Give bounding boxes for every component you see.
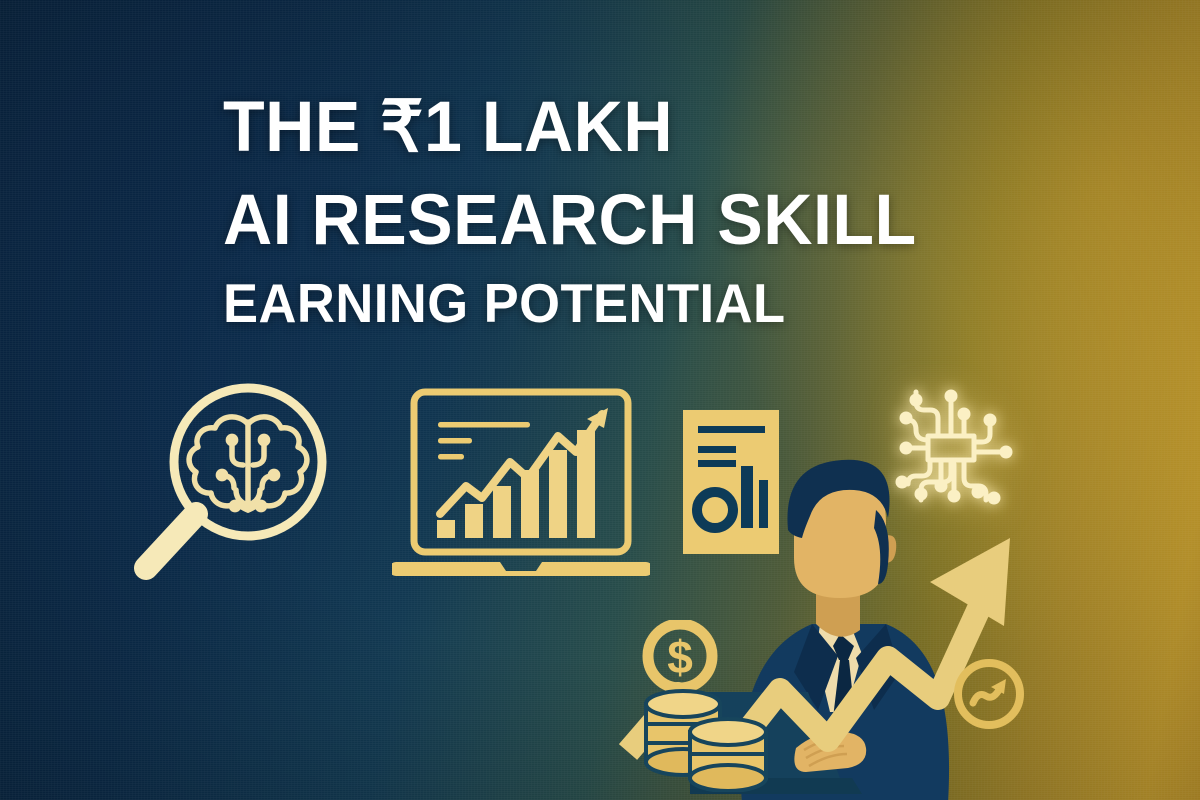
brain-icon — [189, 417, 307, 510]
coin-stack-front — [690, 719, 766, 791]
magnifier-brain-icon — [112, 372, 344, 604]
headline-line-1: THE ₹1 LAKH — [223, 88, 1087, 168]
coin-stack-icon: $ — [624, 620, 788, 792]
chart-text-lines — [438, 422, 530, 460]
svg-text:$: $ — [667, 631, 693, 683]
headline-line-2: AI RESEARCH SKILL — [223, 180, 1087, 262]
headline-line-3: EARNING POTENTIAL — [223, 272, 1083, 334]
poster-canvas: THE ₹1 LAKH AI RESEARCH SKILL EARNING PO… — [0, 0, 1200, 800]
headline-block: THE ₹1 LAKH AI RESEARCH SKILL EARNING PO… — [223, 88, 1123, 334]
trend-badge-icon — [948, 653, 1030, 735]
dollar-sign-icon: $ — [667, 631, 693, 683]
